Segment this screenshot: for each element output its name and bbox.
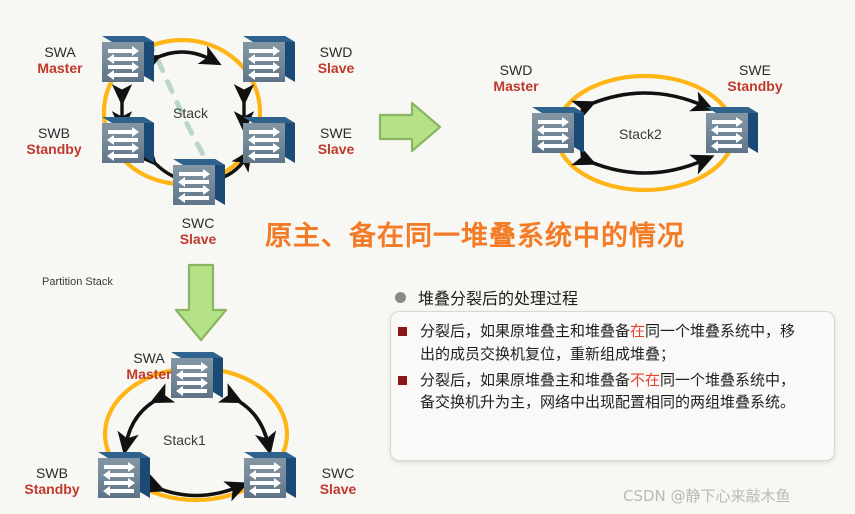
node-name: SWD [300,45,372,61]
switch-stack2-swe [706,107,758,153]
switch-stack1-swc [244,452,296,498]
node-name: SWE [712,63,798,79]
label-stack2-swe-standby: SWE Standby [712,63,798,94]
switch-swb [102,117,154,163]
switch-swa [102,36,154,82]
switch-swd [243,36,295,82]
switch-swe [243,117,295,163]
label-stack2-swd-master: SWD Master [479,63,553,94]
node-role: Master [24,61,96,77]
bullet-text: 分裂后，如果原堆叠主和堆叠备不在同一个堆叠系统中，备交换机升为主，网络中出现配置… [420,369,798,415]
link-swa-swd [152,52,212,60]
link-swb-swc-1 [155,487,238,496]
link-swd-swe-top [586,93,704,106]
label-swd-slave: SWD Slave [300,45,372,76]
node-name: SWA [113,351,185,367]
label-stack1-swc-slave: SWC Slave [302,466,374,497]
list-item: 分裂后，如果原堆叠主和堆叠备不在同一个堆叠系统中，备交换机升为主，网络中出现配置… [398,369,828,415]
stack1-ring-label: Stack1 [163,432,206,448]
panel-heading-text: 堆叠分裂后的处理过程 [418,285,578,309]
page-title: 原主、备在同一堆叠系统中的情况 [265,214,685,253]
switch-swc [173,159,225,205]
node-role: Slave [300,142,372,158]
link-swd-swe-bottom [586,160,704,173]
bullet-square-icon [398,327,407,336]
node-name: SWB [12,126,96,142]
bullet-square-icon [398,376,407,385]
stack2-ring-label: Stack2 [619,126,662,142]
bullet-dot-icon [395,292,406,303]
slide-canvas: SWA Master SWD Slave SWB Standby SWE Sla… [0,0,855,514]
label-swc-slave: SWC Slave [162,216,234,247]
node-name: SWD [479,63,553,79]
node-name: SWC [162,216,234,232]
node-name: SWE [300,126,372,142]
node-role: Master [113,367,185,383]
node-role: Master [479,79,553,95]
node-role: Slave [300,61,372,77]
list-item: 分裂后，如果原堆叠主和堆叠备在同一个堆叠系统中，移出的成员交换机复位，重新组成堆… [398,320,828,366]
partition-stack-caption: Partition Stack [42,276,113,288]
node-name: SWC [302,466,374,482]
stack-ring-label: Stack [173,105,208,121]
link-swa-swb-1 [126,398,160,444]
label-stack1-swb-standby: SWB Standby [12,466,92,497]
link-swa-swc-1 [233,398,268,444]
green-right-arrow [380,103,440,151]
switch-stack2-swd [532,107,584,153]
node-role: Standby [712,79,798,95]
switch-stack1-swb [98,452,150,498]
panel-bullet-list: 分裂后，如果原堆叠主和堆叠备在同一个堆叠系统中，移出的成员交换机复位，重新组成堆… [398,320,828,417]
watermark: CSDN @静下心来敲木鱼 [623,485,791,506]
label-swb-standby: SWB Standby [12,126,96,157]
green-down-arrow [176,265,226,340]
label-swa-master: SWA Master [24,45,96,76]
node-role: Standby [12,482,92,498]
node-role: Standby [12,142,96,158]
node-name: SWB [12,466,92,482]
node-role: Slave [302,482,374,498]
label-swe-slave: SWE Slave [300,126,372,157]
label-stack1-swa-master: SWA Master [113,351,185,382]
node-name: SWA [24,45,96,61]
node-role: Slave [162,232,234,248]
panel-heading-row: 堆叠分裂后的处理过程 [395,285,578,309]
bullet-text: 分裂后，如果原堆叠主和堆叠备在同一个堆叠系统中，移出的成员交换机复位，重新组成堆… [420,320,798,366]
